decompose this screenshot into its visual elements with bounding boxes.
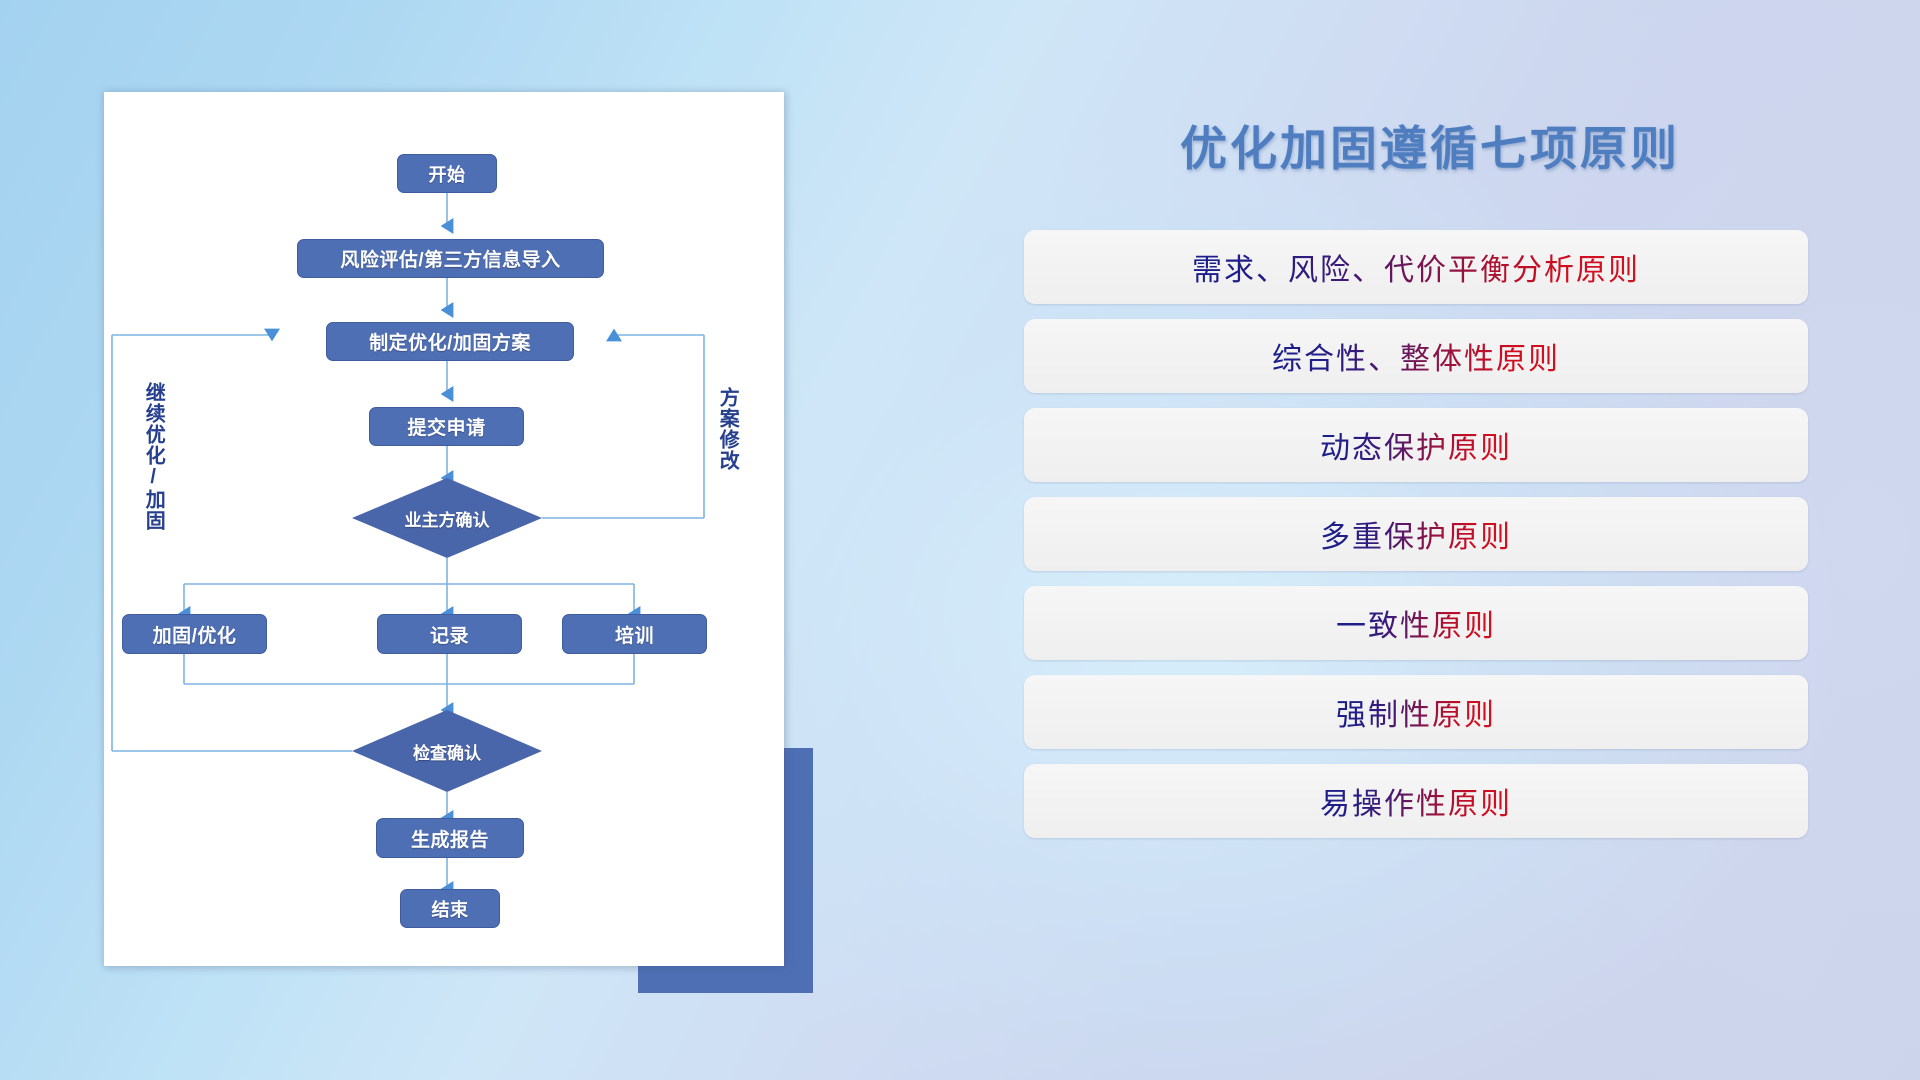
- principle-item-3-label: 动态保护原则: [1320, 423, 1512, 467]
- flow-node-start-label: 开始: [429, 161, 466, 187]
- flow-node-make-plan-label: 制定优化/加固方案: [369, 328, 531, 355]
- flow-node-owner-confirm[interactable]: 业主方确认: [352, 478, 542, 558]
- principle-item-6[interactable]: 强制性原则: [1024, 675, 1808, 749]
- flow-node-start[interactable]: 开始: [397, 154, 497, 193]
- flow-node-make-plan[interactable]: 制定优化/加固方案: [326, 322, 574, 361]
- flow-node-generate-report[interactable]: 生成报告: [376, 818, 524, 858]
- principle-item-2-label: 综合性、整体性原则: [1272, 334, 1560, 378]
- principles-title: 优化加固遵循七项原则: [1020, 110, 1840, 179]
- principle-item-1[interactable]: 需求、风险、代价平衡分析原则: [1024, 230, 1808, 304]
- flow-edge-label-continue-optimize: 继续优化/加固: [142, 382, 163, 531]
- principle-item-5[interactable]: 一致性原则: [1024, 586, 1808, 660]
- flow-node-generate-report-label: 生成报告: [411, 825, 489, 852]
- flow-node-check-confirm-label: 检查确认: [352, 710, 542, 792]
- flow-node-submit-application-label: 提交申请: [407, 413, 485, 440]
- principles-list: 需求、风险、代价平衡分析原则 综合性、整体性原则 动态保护原则 多重保护原则 一…: [1024, 230, 1808, 853]
- flow-node-end[interactable]: 结束: [400, 889, 500, 928]
- principle-item-4-label: 多重保护原则: [1320, 512, 1512, 556]
- flow-node-training-label: 培训: [615, 621, 654, 648]
- flow-node-submit-application[interactable]: 提交申请: [369, 407, 524, 446]
- principle-item-6-label: 强制性原则: [1336, 690, 1496, 734]
- flow-node-end-label: 结束: [432, 896, 469, 922]
- flow-node-reinforce-optimize[interactable]: 加固/优化: [122, 614, 267, 654]
- principle-item-5-label: 一致性原则: [1336, 601, 1496, 645]
- flow-node-training[interactable]: 培训: [562, 614, 707, 654]
- flow-node-owner-confirm-label: 业主方确认: [352, 478, 542, 558]
- principle-item-2[interactable]: 综合性、整体性原则: [1024, 319, 1808, 393]
- flow-node-risk-assessment-label: 风险评估/第三方信息导入: [340, 245, 560, 272]
- flow-edge-label-plan-revision: 方案修改: [716, 387, 737, 471]
- flow-node-risk-assessment[interactable]: 风险评估/第三方信息导入: [297, 239, 604, 278]
- principle-item-3[interactable]: 动态保护原则: [1024, 408, 1808, 482]
- flowchart-card: 开始 风险评估/第三方信息导入 制定优化/加固方案 提交申请 业主方确认: [104, 92, 784, 966]
- principle-item-7[interactable]: 易操作性原则: [1024, 764, 1808, 838]
- flow-node-record-label: 记录: [430, 621, 469, 648]
- slide-canvas: 开始 风险评估/第三方信息导入 制定优化/加固方案 提交申请 业主方确认: [0, 0, 1920, 1080]
- principle-item-4[interactable]: 多重保护原则: [1024, 497, 1808, 571]
- flowchart: 开始 风险评估/第三方信息导入 制定优化/加固方案 提交申请 业主方确认: [104, 92, 784, 966]
- flow-node-reinforce-optimize-label: 加固/优化: [153, 621, 237, 648]
- flow-node-record[interactable]: 记录: [377, 614, 522, 654]
- principle-item-1-label: 需求、风险、代价平衡分析原则: [1192, 245, 1640, 289]
- flow-node-check-confirm[interactable]: 检查确认: [352, 710, 542, 792]
- principle-item-7-label: 易操作性原则: [1320, 779, 1512, 823]
